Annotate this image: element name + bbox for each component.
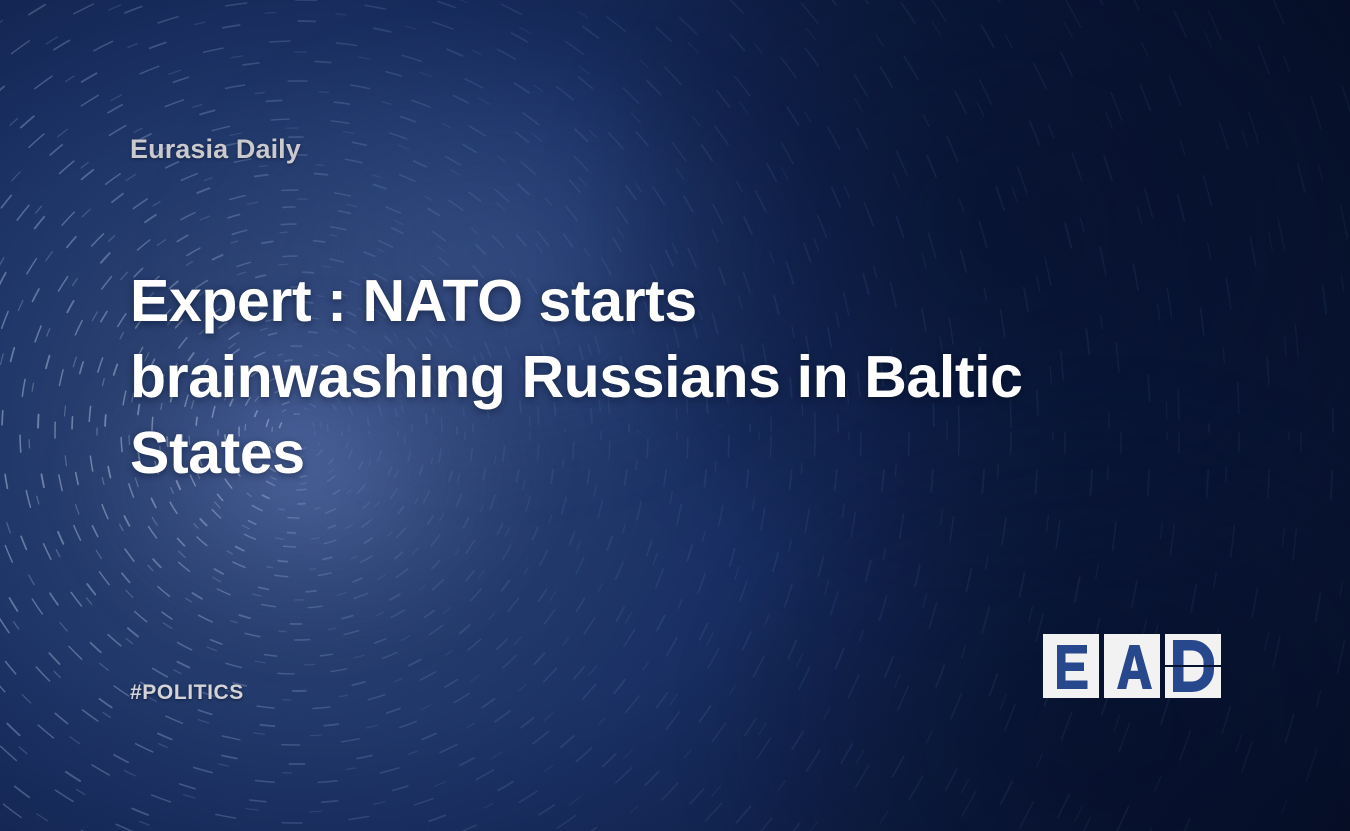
headline: Expert : NATO starts brainwashing Russia… [130,263,1050,491]
category-tag[interactable]: #POLITICS [130,681,244,705]
publication-name: Eurasia Daily [130,134,301,165]
logo-tile-d [1165,634,1221,698]
logo-tile-e [1043,634,1099,698]
social-share-card: Eurasia Daily Expert : NATO starts brain… [0,0,1350,831]
logo-tile-a [1104,634,1160,698]
ead-logo[interactable]: EAD [1043,628,1223,708]
